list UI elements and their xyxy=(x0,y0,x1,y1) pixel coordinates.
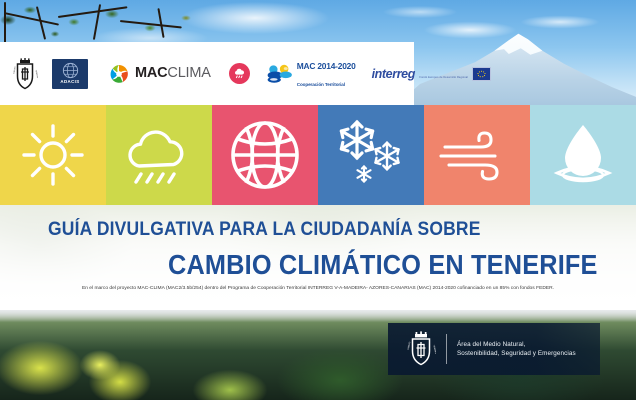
svg-text:TENERIFE: TENERIFE xyxy=(432,345,436,355)
interreg-text: interreg Fondo Europeo de Desarrollo Reg… xyxy=(372,66,468,82)
svg-text:CABILDO: CABILDO xyxy=(12,65,16,73)
logo-mac-2014-2020: MAC 2014-2020 Cooperación Territorial xyxy=(266,57,356,91)
sun-icon xyxy=(22,124,84,186)
cabildo-crest-icon-large: CABILDO TENERIFE xyxy=(406,331,436,367)
svg-text:TENERIFE: TENERIFE xyxy=(35,69,38,78)
logo-interreg: interreg Fondo Europeo de Desarrollo Reg… xyxy=(372,66,491,82)
cabildo-crest-icon: CABILDO TENERIFE xyxy=(12,58,38,90)
logo-macclima: MACCLIMA xyxy=(108,63,211,85)
poster-title-line-2: CAMBIO CLIMÁTICO EN TENERIFE xyxy=(168,249,598,281)
rain-cloud-icon xyxy=(123,124,195,186)
mac-2014-2020-text: MAC 2014-2020 Cooperación Territorial xyxy=(297,57,356,91)
logo-cloud-rosette xyxy=(229,63,250,84)
photo-haze xyxy=(0,310,636,322)
department-name: Área del Medio Natural, Sostenibilidad, … xyxy=(457,340,576,359)
macclima-word-clima: CLIMA xyxy=(167,65,210,81)
mac-cooperation-icon xyxy=(266,64,294,84)
poster-title-line-1: GUÍA DIVULGATIVA PARA LA CIUDADANÍA SOBR… xyxy=(48,219,481,241)
interreg-sublabel: Fondo Europeo de Desarrollo Regional xyxy=(419,76,468,79)
svg-text:CABILDO: CABILDO xyxy=(407,341,412,350)
macclima-wordmark: MACCLIMA xyxy=(135,66,211,81)
icon-cell-globe xyxy=(212,105,318,205)
globe-icon xyxy=(229,119,301,191)
adacis-globe-icon xyxy=(62,62,79,79)
department-line-2: Sostenibilidad, Seguridad y Emergencias xyxy=(457,350,576,357)
icon-cell-water xyxy=(530,105,636,205)
snowflake-icon xyxy=(333,118,409,192)
cloud-rain-badge-icon xyxy=(233,68,246,79)
adacis-label: ADACIS xyxy=(60,80,79,84)
icon-cell-snow xyxy=(318,105,424,205)
poster-cover: CABILDO TENERIFE ADACIS xyxy=(0,0,636,400)
icon-cell-wind xyxy=(424,105,530,205)
icon-cell-sun xyxy=(0,105,106,205)
macclima-swirl-icon xyxy=(108,63,130,85)
interreg-wordmark: interreg xyxy=(372,67,415,81)
funding-fineprint: En el marco del proyecto MAC-CLIMA (MAC2… xyxy=(0,286,636,291)
climate-icon-strip xyxy=(0,105,636,205)
logo-adacis: ADACIS xyxy=(52,59,88,89)
partner-logo-row: CABILDO TENERIFE ADACIS xyxy=(0,42,414,105)
logo-cabildo-tenerife: CABILDO TENERIFE xyxy=(12,58,38,90)
title-band: GUÍA DIVULGATIVA PARA LA CIUDADANÍA SOBR… xyxy=(0,205,636,310)
vine-foliage xyxy=(0,0,215,48)
department-line-1: Área del Medio Natural, xyxy=(457,341,525,348)
mac-title: MAC 2014-2020 xyxy=(297,61,356,71)
title-inner: GUÍA DIVULGATIVA PARA LA CIUDADANÍA SOBR… xyxy=(0,205,636,310)
eu-flag-icon xyxy=(472,67,491,81)
mac-subtitle: Cooperación Territorial xyxy=(297,82,345,87)
water-drop-icon xyxy=(551,121,615,189)
wind-icon xyxy=(439,125,515,185)
icon-cell-rain xyxy=(106,105,212,205)
cabildo-department-badge: CABILDO TENERIFE Área del Medio Natural,… xyxy=(388,323,600,375)
badge-divider xyxy=(446,334,447,364)
macclima-word-mac: MAC xyxy=(135,65,167,81)
